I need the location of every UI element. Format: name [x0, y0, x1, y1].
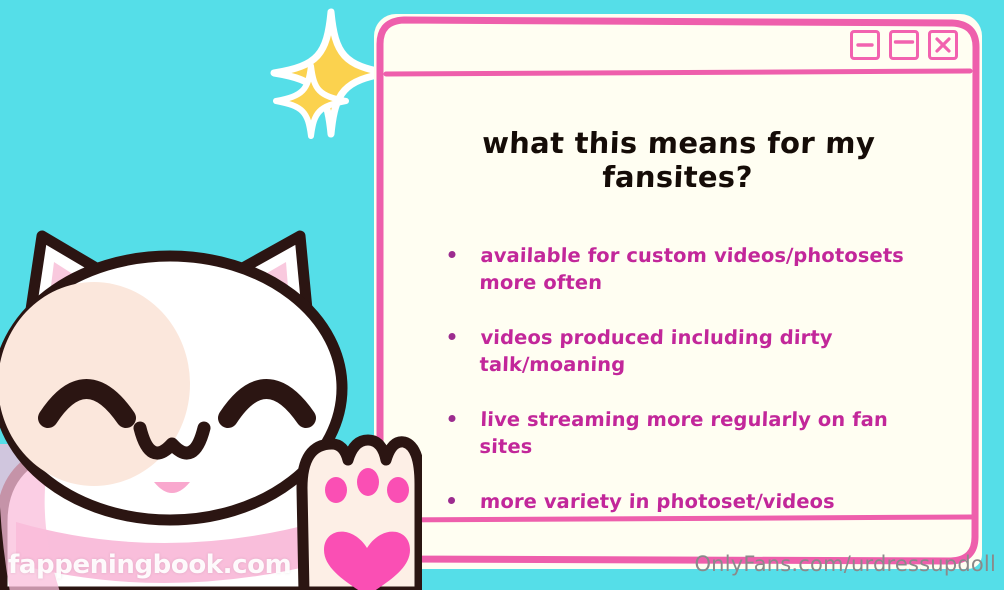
list-item-label: more variety in photoset/videos — [480, 490, 836, 513]
close-button[interactable] — [928, 30, 958, 60]
bullet-dot-icon — [448, 251, 455, 258]
maximize-icon — [892, 33, 916, 57]
minimize-icon — [853, 33, 877, 57]
app-window: what this means for my fansites? availab… — [374, 14, 982, 569]
bullet-list: available for custom videos/photosets mo… — [408, 242, 948, 515]
list-item-label: videos produced including dirty talk/moa… — [479, 326, 833, 376]
list-item: live streaming more regularly on fan sit… — [441, 406, 939, 460]
bullet-dot-icon — [448, 415, 455, 422]
list-item: videos produced including dirty talk/moa… — [441, 324, 939, 378]
list-item: more variety in photoset/videos — [442, 488, 939, 515]
cat-mascot — [0, 192, 422, 590]
window-titlebar — [374, 14, 982, 72]
window-controls — [850, 30, 958, 60]
sparkle-small-icon — [272, 62, 350, 140]
page-title: what this means for my fansites? — [407, 126, 949, 194]
list-item: available for custom videos/photosets mo… — [441, 242, 939, 296]
watermark-right: OnlyFans.com/urdressupdoll — [694, 552, 996, 576]
watermark-left: fappeningbook.com — [8, 550, 291, 580]
list-item-label: live streaming more regularly on fan sit… — [479, 408, 888, 458]
bullet-dot-icon — [448, 497, 455, 504]
close-icon — [931, 33, 955, 57]
minimize-button[interactable] — [850, 30, 880, 60]
list-item-label: available for custom videos/photosets mo… — [479, 244, 904, 294]
window-content: what this means for my fansites? availab… — [374, 72, 982, 569]
maximize-button[interactable] — [889, 30, 919, 60]
bullet-dot-icon — [448, 333, 455, 340]
screenshot-canvas: what this means for my fansites? availab… — [0, 0, 1004, 590]
